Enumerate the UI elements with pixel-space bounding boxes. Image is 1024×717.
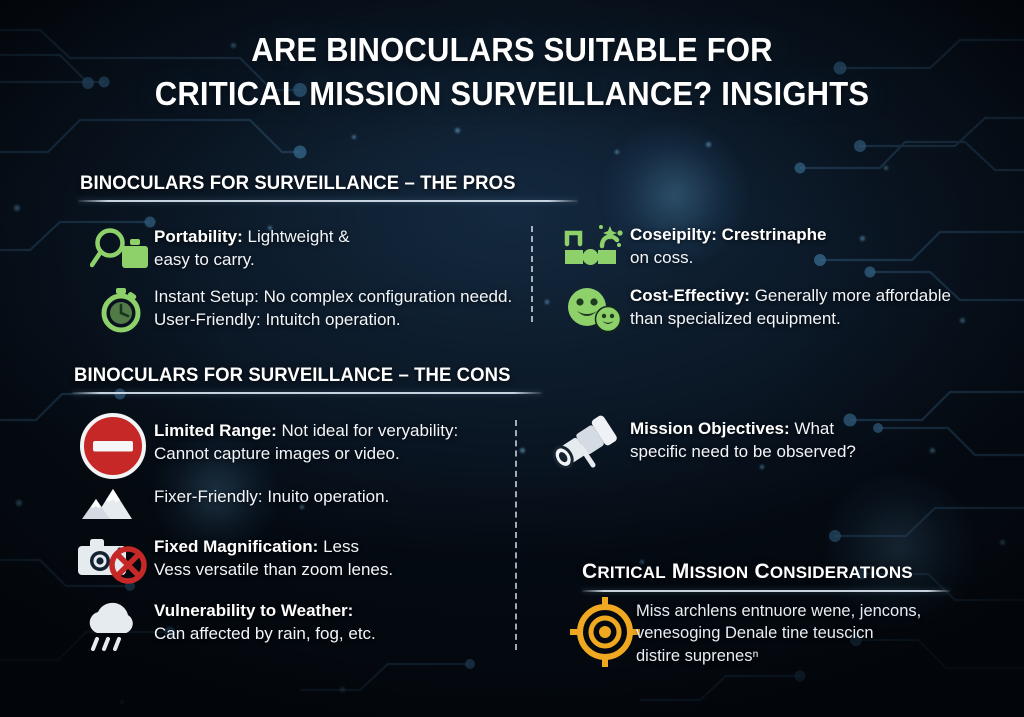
cap-c-2: C [754, 560, 769, 583]
cons-item-fixed-magnification-text: Fixed Magnification: Less Vess versatile… [154, 534, 393, 582]
sparkle-machine-icon [558, 222, 630, 274]
body-line-2: venesoging Denale tine teuscicn [636, 624, 874, 642]
particle [706, 142, 711, 147]
second-line: than specialized equipment. [630, 309, 841, 328]
word-considerations: ONSIDERATIONS [770, 563, 913, 582]
camera-blocked-icon [72, 534, 154, 586]
considerations-rule [582, 590, 950, 592]
telescope-icon [540, 412, 630, 474]
pros-item-coseipilty-text: Coseipilty: Crestrinaphe on coss. [630, 222, 827, 270]
pros-item-cost-effective-text: Cost-Effectivy: Generally more affordabl… [630, 283, 951, 331]
particle [340, 687, 345, 692]
pros-item-portability-text: Portability: Lightweight & easy to carry… [154, 224, 350, 272]
pros-item-instant-setup-text: Instant Setup: No complex configuration … [154, 285, 512, 332]
cons-item-weather: Vulnerability to Weather: Can affected b… [72, 598, 512, 654]
second-line: on coss. [630, 248, 693, 267]
second-line: Cannot capture images or video. [154, 444, 400, 463]
cons-item-weather-text: Vulnerability to Weather: Can affected b… [154, 598, 376, 646]
cons-item-mission-objectives-text: Mission Objectives: What specific need t… [630, 412, 856, 464]
rest-text: Lightweight & [243, 227, 350, 246]
rest-text: Less [318, 537, 359, 556]
cons-column-divider [515, 420, 517, 650]
second-line: easy to carry. [154, 250, 255, 269]
particle [1000, 540, 1005, 545]
particle [352, 135, 356, 139]
pros-column-divider [531, 226, 533, 322]
title-line-2: CRITICAL MISSION SURVEILLANCE? INSIGHTS [31, 72, 994, 116]
cap-m: M [672, 560, 690, 583]
particle [545, 300, 549, 304]
bold-lead: Coseipilty: Crestrinaphe [630, 225, 827, 244]
bold-lead: Portability: [154, 227, 243, 246]
second-line: specific need to be observed? [630, 442, 856, 461]
second-line: Vess versatile than zoom lenes. [154, 560, 393, 579]
particle [14, 205, 20, 211]
cap-c-1: C [582, 560, 597, 583]
pros-item-portability: Portability: Lightweight & easy to carry… [88, 224, 488, 278]
considerations-body: Miss archlens entnuore wene, jencons, ve… [636, 600, 976, 667]
cons-item-fixer-friendly: Fixer-Friendly: Inuito operation. [72, 483, 512, 529]
cons-item-fixed-magnification: Fixed Magnification: Less Vess versatile… [72, 534, 512, 586]
bold-lead: Fixed Magnification: [154, 537, 318, 556]
body-line-1: Miss archlens entnuore wene, jencons, [636, 602, 921, 620]
smiley-faces-icon [558, 283, 630, 335]
word-mission: ISSION [690, 563, 749, 582]
second-line: User-Friendly: Intuitch operation. [154, 310, 401, 329]
bold-lead: Cost-Effectivy: [630, 286, 750, 305]
rest-text: Generally more affordable [750, 286, 951, 305]
cons-item-fixer-friendly-text: Fixer-Friendly: Inuito operation. [154, 483, 389, 509]
cons-item-limited-range: Limited Range: Not ideal for veryability… [72, 414, 522, 478]
bold-lead: Limited Range: [154, 421, 277, 440]
page-title: ARE BINOCULARS SUITABLE FOR CRITICAL MIS… [31, 28, 994, 116]
pros-heading-rule [78, 200, 578, 202]
bold-lead: Vulnerability to Weather: [154, 601, 353, 620]
cons-heading-rule [72, 392, 542, 394]
rest-text: Not ideal for veryability: [277, 421, 458, 440]
particle [16, 500, 22, 506]
particle [615, 150, 619, 154]
crosshair-target-icon [568, 595, 642, 669]
body-line-3: distire suprenesⁿ [636, 647, 759, 665]
pros-item-coseipilty: Coseipilty: Crestrinaphe on coss. [558, 222, 978, 274]
rest-text: Instant Setup: No complex configuration … [154, 287, 512, 306]
cons-section-heading: BINOCULARS FOR SURVEILLANCE – THE CONS [74, 364, 511, 387]
word-critical: RITICAL [597, 563, 665, 582]
particle [455, 128, 460, 133]
bold-lead: Mission Objectives: [630, 419, 790, 438]
pros-section-heading: BINOCULARS FOR SURVEILLANCE – THE PROS [80, 172, 516, 195]
no-entry-icon [72, 414, 154, 478]
second-line: Can affected by rain, fog, etc. [154, 624, 376, 643]
particle [884, 166, 888, 170]
mountains-icon [72, 483, 154, 529]
rain-cloud-icon [72, 598, 154, 654]
title-line-1: ARE BINOCULARS SUITABLE FOR [251, 31, 773, 68]
cons-item-limited-range-text: Limited Range: Not ideal for veryability… [154, 414, 458, 466]
particle [120, 700, 124, 704]
rest-text: Fixer-Friendly: Inuito operation. [154, 487, 389, 506]
considerations-heading: CRITICAL MISSION CONSIDERATIONS [582, 560, 913, 584]
pros-item-instant-setup: Instant Setup: No complex configuration … [88, 285, 538, 335]
cons-item-mission-objectives: Mission Objectives: What specific need t… [540, 412, 980, 474]
stopwatch-icon [88, 285, 154, 335]
infographic-canvas: ARE BINOCULARS SUITABLE FOR CRITICAL MIS… [0, 0, 1024, 717]
rest-text: What [790, 419, 834, 438]
pros-item-cost-effective: Cost-Effectivy: Generally more affordabl… [558, 283, 988, 335]
magnifier-briefcase-icon [88, 224, 154, 278]
